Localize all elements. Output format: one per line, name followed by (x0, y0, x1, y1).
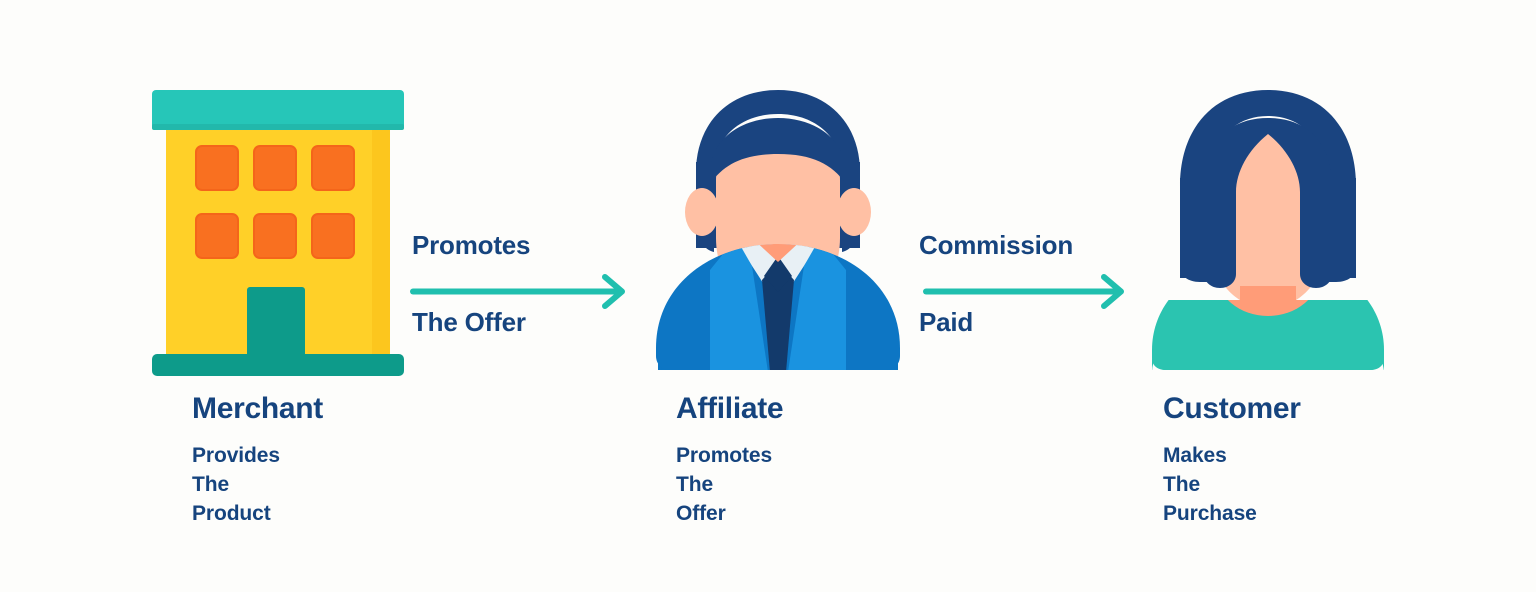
node-subtitle-customer: Makes The Purchase (1163, 442, 1257, 529)
connector-caption-line1: Promotes (412, 226, 530, 264)
node-title-customer: Customer (1163, 394, 1301, 424)
node-subtitle-line1: Promotes The (676, 442, 772, 500)
node-subtitle-line2: Product (192, 500, 280, 529)
woman-shirt-icon (1148, 300, 1388, 377)
node-title-merchant: Merchant (192, 394, 323, 424)
node-subtitle-line2: Offer (676, 500, 772, 529)
affiliate-flow-diagram: Merchant Provides The Product Promotes T… (0, 0, 1536, 592)
node-subtitle-line1: Makes The (1163, 442, 1257, 500)
node-subtitle-affiliate: Promotes The Offer (676, 442, 772, 529)
office-building-icon (150, 88, 406, 381)
arrow-right-icon (406, 274, 634, 315)
businessman-torso-icon (652, 244, 904, 377)
node-subtitle-line1: Provides The (192, 442, 280, 500)
arrow-right-icon (919, 274, 1133, 315)
node-title-affiliate: Affiliate (676, 394, 783, 424)
node-subtitle-line2: Purchase (1163, 500, 1257, 529)
node-subtitle-merchant: Provides The Product (192, 442, 280, 529)
connector-caption-line1: Commission (919, 226, 1073, 264)
